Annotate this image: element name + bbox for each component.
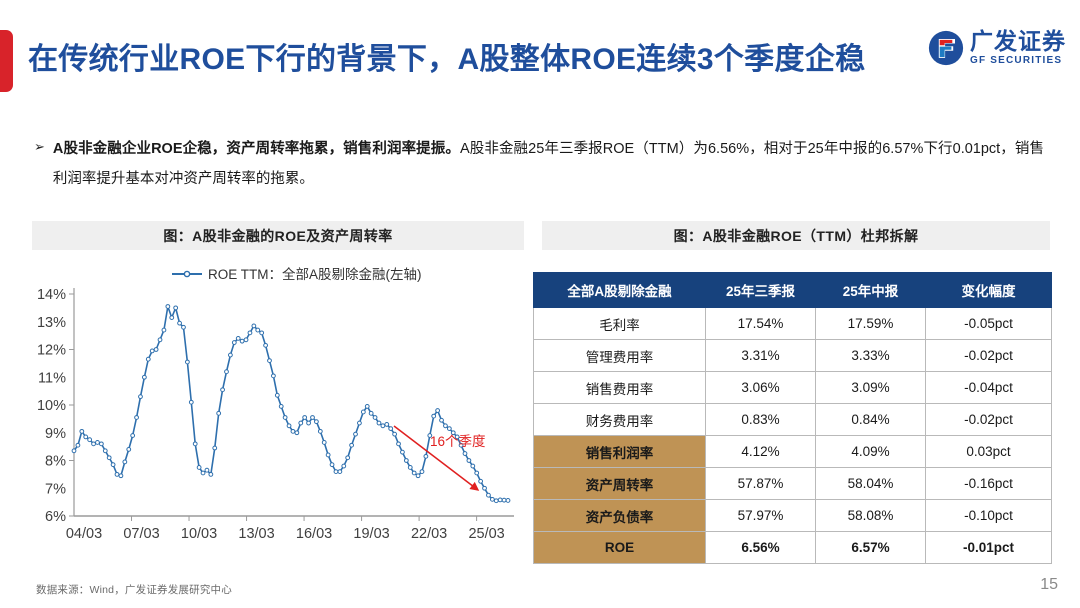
series-point bbox=[260, 331, 264, 335]
bullet-arrow-icon: ➢ bbox=[34, 134, 45, 194]
table-row: 财务费用率0.83%0.84%-0.02pct bbox=[534, 404, 1052, 436]
series-line-roe bbox=[74, 306, 508, 500]
series-point bbox=[369, 411, 373, 415]
cell-metric-label: 资产周转率 bbox=[534, 468, 706, 500]
title-accent-bar bbox=[0, 30, 13, 92]
series-point bbox=[158, 338, 162, 342]
cell-change-value: -0.10pct bbox=[926, 500, 1052, 532]
cell-h1-value: 3.33% bbox=[816, 340, 926, 372]
series-point bbox=[229, 353, 233, 357]
cell-q3-value: 17.54% bbox=[706, 308, 816, 340]
series-point bbox=[467, 459, 471, 463]
series-point bbox=[315, 420, 319, 424]
series-point bbox=[483, 486, 487, 490]
y-tick-label: 9% bbox=[45, 426, 66, 442]
series-point bbox=[420, 470, 424, 474]
series-point bbox=[217, 411, 221, 415]
cell-q3-value: 6.56% bbox=[706, 532, 816, 564]
series-point bbox=[123, 460, 127, 464]
series-point bbox=[150, 349, 154, 353]
col-header-metric: 全部A股剔除金融 bbox=[534, 273, 706, 308]
y-tick-label: 12% bbox=[37, 343, 66, 359]
series-point bbox=[142, 375, 146, 379]
slide-root: 在传统行业ROE下行的背景下，A股整体ROE连续3个季度企稳 广发证券 GF S… bbox=[0, 0, 1080, 608]
table-body: 毛利率17.54%17.59%-0.05pct管理费用率3.31%3.33%-0… bbox=[534, 308, 1052, 564]
series-point bbox=[205, 468, 209, 472]
series-point bbox=[244, 338, 248, 342]
logo-text-group: 广发证券 GF SECURITIES bbox=[970, 30, 1066, 66]
series-point bbox=[248, 331, 252, 335]
series-point bbox=[84, 435, 88, 439]
series-point bbox=[471, 464, 475, 468]
series-point bbox=[272, 374, 276, 378]
x-tick-label: 22/03 bbox=[411, 526, 447, 542]
series-point bbox=[365, 404, 369, 408]
series-point bbox=[213, 446, 217, 450]
y-tick-label: 7% bbox=[45, 481, 66, 497]
series-point bbox=[401, 450, 405, 454]
series-point bbox=[287, 424, 291, 428]
roe-line-chart: ROE TTM：全部A股剔除金融(左轴) 6%7%8%9%10%11%12%13… bbox=[22, 258, 522, 563]
series-point bbox=[268, 359, 272, 363]
series-point bbox=[322, 441, 326, 445]
series-point bbox=[135, 416, 139, 420]
series-point bbox=[303, 416, 307, 420]
series-point bbox=[338, 470, 342, 474]
gf-logo-icon bbox=[928, 30, 964, 66]
series-point bbox=[299, 421, 303, 425]
series-point bbox=[447, 427, 451, 431]
series-point bbox=[236, 337, 240, 341]
series-point bbox=[393, 432, 397, 436]
cell-change-value: 0.03pct bbox=[926, 436, 1052, 468]
cell-metric-label: 财务费用率 bbox=[534, 404, 706, 436]
series-point bbox=[350, 443, 354, 447]
cell-h1-value: 17.59% bbox=[816, 308, 926, 340]
cell-h1-value: 6.57% bbox=[816, 532, 926, 564]
series-point bbox=[264, 343, 268, 347]
cell-q3-value: 57.97% bbox=[706, 500, 816, 532]
series-point bbox=[479, 479, 483, 483]
series-point bbox=[178, 321, 182, 325]
series-point bbox=[494, 499, 498, 503]
series-point bbox=[256, 328, 260, 332]
series-point bbox=[80, 429, 84, 433]
brand-logo: 广发证券 GF SECURITIES bbox=[928, 30, 1066, 66]
table-row: 销售费用率3.06%3.09%-0.04pct bbox=[534, 372, 1052, 404]
series-point bbox=[275, 393, 279, 397]
table-row: 资产周转率57.87%58.04%-0.16pct bbox=[534, 468, 1052, 500]
series-point bbox=[487, 493, 491, 497]
series-point bbox=[432, 414, 436, 418]
legend-marker-roe bbox=[184, 271, 189, 276]
series-point bbox=[408, 466, 412, 470]
cell-change-value: -0.04pct bbox=[926, 372, 1052, 404]
cell-metric-label: 毛利率 bbox=[534, 308, 706, 340]
dupont-decomposition-table: 全部A股剔除金融 25年三季报 25年中报 变化幅度 毛利率17.54%17.5… bbox=[533, 272, 1052, 564]
cell-metric-label: 资产负债率 bbox=[534, 500, 706, 532]
series-point bbox=[197, 466, 201, 470]
series-point bbox=[166, 305, 170, 309]
series-point bbox=[490, 497, 494, 501]
data-source-note: 数据来源：Wind，广发证券发展研究中心 bbox=[36, 582, 232, 597]
cell-metric-label: 销售费用率 bbox=[534, 372, 706, 404]
x-tick-label: 25/03 bbox=[468, 526, 504, 542]
cell-change-value: -0.02pct bbox=[926, 340, 1052, 372]
series-point bbox=[361, 410, 365, 414]
cell-h1-value: 0.84% bbox=[816, 404, 926, 436]
cell-change-value: -0.16pct bbox=[926, 468, 1052, 500]
series-point bbox=[307, 421, 311, 425]
series-point bbox=[88, 438, 92, 442]
series-point bbox=[424, 454, 428, 458]
series-point bbox=[346, 456, 350, 460]
series-point bbox=[291, 429, 295, 433]
series-point bbox=[397, 442, 401, 446]
x-tick-label: 04/03 bbox=[66, 526, 102, 542]
series-point bbox=[506, 499, 510, 503]
logo-name-cn: 广发证券 bbox=[970, 30, 1066, 53]
cell-q3-value: 3.06% bbox=[706, 372, 816, 404]
table-row: 毛利率17.54%17.59%-0.05pct bbox=[534, 308, 1052, 340]
series-point bbox=[440, 418, 444, 422]
series-point bbox=[475, 471, 479, 475]
series-point bbox=[385, 423, 389, 427]
y-tick-label: 13% bbox=[37, 315, 66, 331]
series-point bbox=[193, 442, 197, 446]
series-point bbox=[342, 464, 346, 468]
x-tick-label: 19/03 bbox=[353, 526, 389, 542]
y-tick-label: 10% bbox=[37, 398, 66, 414]
series-point bbox=[209, 472, 213, 476]
cell-change-value: -0.05pct bbox=[926, 308, 1052, 340]
series-point bbox=[283, 416, 287, 420]
series-point bbox=[154, 348, 158, 352]
series-point bbox=[436, 409, 440, 413]
y-tick-label: 14% bbox=[37, 287, 66, 303]
series-point bbox=[72, 449, 76, 453]
series-point bbox=[334, 470, 338, 474]
series-point bbox=[182, 325, 186, 329]
legend-label-roe: ROE TTM：全部A股剔除金融(左轴) bbox=[208, 266, 422, 282]
table-row: 资产负债率57.97%58.08%-0.10pct bbox=[534, 500, 1052, 532]
col-header-change: 变化幅度 bbox=[926, 273, 1052, 308]
table-header-row: 全部A股剔除金融 25年三季报 25年中报 变化幅度 bbox=[534, 273, 1052, 308]
cell-change-value: -0.01pct bbox=[926, 532, 1052, 564]
chart-annotation-16-quarters: 16个季度 bbox=[394, 426, 486, 490]
series-point bbox=[404, 459, 408, 463]
series-point bbox=[444, 424, 448, 428]
y-tick-label: 6% bbox=[45, 509, 66, 525]
cell-q3-value: 3.31% bbox=[706, 340, 816, 372]
cell-q3-value: 4.12% bbox=[706, 436, 816, 468]
chart-svg: ROE TTM：全部A股剔除金融(左轴) 6%7%8%9%10%11%12%13… bbox=[22, 258, 522, 563]
cell-h1-value: 58.08% bbox=[816, 500, 926, 532]
series-point bbox=[103, 449, 107, 453]
series-point bbox=[311, 416, 315, 420]
y-tick-label: 11% bbox=[38, 370, 66, 386]
cell-h1-value: 3.09% bbox=[816, 372, 926, 404]
series-point bbox=[318, 429, 322, 433]
table-row: 销售利润率4.12%4.09%0.03pct bbox=[534, 436, 1052, 468]
series-point bbox=[76, 443, 80, 447]
series-point bbox=[232, 341, 236, 345]
series-point bbox=[252, 324, 256, 328]
series-point bbox=[295, 431, 299, 435]
series-point bbox=[201, 471, 205, 475]
col-header-q3: 25年三季报 bbox=[706, 273, 816, 308]
cell-metric-label: ROE bbox=[534, 532, 706, 564]
axis-lines bbox=[69, 288, 514, 521]
series-point bbox=[330, 463, 334, 467]
x-tick-label: 16/03 bbox=[296, 526, 332, 542]
cell-metric-label: 销售利润率 bbox=[534, 436, 706, 468]
series-point bbox=[162, 328, 166, 332]
cell-h1-value: 58.04% bbox=[816, 468, 926, 500]
col-header-h1: 25年中报 bbox=[816, 273, 926, 308]
series-point bbox=[358, 421, 362, 425]
chart-series-roe bbox=[72, 305, 510, 503]
x-tick-label: 13/03 bbox=[238, 526, 274, 542]
series-point bbox=[131, 434, 135, 438]
summary-text: A股非金融企业ROE企稳，资产周转率拖累，销售利润率提振。A股非金融25年三季报… bbox=[53, 134, 1044, 194]
series-point bbox=[146, 357, 150, 361]
series-point bbox=[99, 442, 103, 446]
table-row: 管理费用率3.31%3.33%-0.02pct bbox=[534, 340, 1052, 372]
x-tick-label: 10/03 bbox=[181, 526, 217, 542]
page-title: 在传统行业ROE下行的背景下，A股整体ROE连续3个季度企稳 bbox=[28, 38, 908, 82]
page-number: 15 bbox=[1040, 576, 1058, 594]
cell-q3-value: 0.83% bbox=[706, 404, 816, 436]
summary-lead: A股非金融企业ROE企稳，资产周转率拖累，销售利润率提振。 bbox=[53, 141, 460, 157]
right-table-caption: 图：A股非金融ROE（TTM）杜邦拆解 bbox=[542, 221, 1050, 250]
series-point bbox=[373, 416, 377, 420]
series-point bbox=[381, 424, 385, 428]
series-point bbox=[416, 474, 420, 478]
annotation-label: 16个季度 bbox=[430, 434, 486, 449]
series-point bbox=[170, 316, 174, 320]
series-point bbox=[96, 441, 100, 445]
series-point bbox=[463, 452, 467, 456]
cell-q3-value: 57.87% bbox=[706, 468, 816, 500]
series-point bbox=[115, 472, 119, 476]
series-point bbox=[279, 404, 283, 408]
series-point bbox=[107, 456, 111, 460]
left-chart-caption: 图：A股非金融的ROE及资产周转率 bbox=[32, 221, 524, 250]
series-point bbox=[389, 427, 393, 431]
y-axis-tick-labels: 6%7%8%9%10%11%12%13%14% bbox=[37, 287, 66, 525]
series-point bbox=[127, 448, 131, 452]
series-point bbox=[189, 400, 193, 404]
series-point bbox=[139, 395, 143, 399]
series-point bbox=[221, 388, 225, 392]
series-point bbox=[377, 421, 381, 425]
cell-metric-label: 管理费用率 bbox=[534, 340, 706, 372]
logo-name-en: GF SECURITIES bbox=[970, 56, 1066, 66]
x-tick-label: 07/03 bbox=[123, 526, 159, 542]
chart-legend: ROE TTM：全部A股剔除金融(左轴) bbox=[172, 266, 422, 282]
series-point bbox=[92, 442, 96, 446]
series-point bbox=[240, 339, 244, 343]
series-point bbox=[111, 463, 115, 467]
series-point bbox=[174, 306, 178, 310]
table-row: ROE6.56%6.57%-0.01pct bbox=[534, 532, 1052, 564]
summary-bullet: ➢ A股非金融企业ROE企稳，资产周转率拖累，销售利润率提振。A股非金融25年三… bbox=[34, 134, 1044, 194]
cell-h1-value: 4.09% bbox=[816, 436, 926, 468]
series-point bbox=[354, 432, 358, 436]
cell-change-value: -0.02pct bbox=[926, 404, 1052, 436]
y-tick-label: 8% bbox=[45, 454, 66, 470]
series-point bbox=[225, 370, 229, 374]
series-point bbox=[185, 360, 189, 364]
series-point bbox=[502, 498, 506, 502]
x-axis-tick-labels: 04/0307/0310/0313/0316/0319/0322/0325/03 bbox=[66, 526, 505, 542]
series-point bbox=[412, 471, 416, 475]
series-point bbox=[498, 498, 502, 502]
series-point bbox=[326, 453, 330, 457]
series-point bbox=[119, 474, 123, 478]
